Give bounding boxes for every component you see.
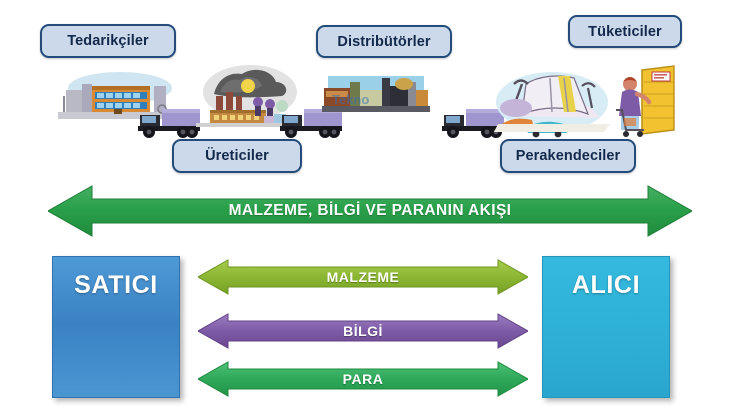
seller-label: SATICI xyxy=(74,271,158,300)
exchange-flow-para: PARA xyxy=(198,360,528,398)
chain-label-retailers[interactable]: Perakendeciler xyxy=(500,139,636,173)
exchange-flow-bilgi: BİLGİ xyxy=(198,312,528,350)
chain-label-consumers[interactable]: Tüketiciler xyxy=(568,15,682,48)
supply-chain-diagram: Tekno xyxy=(0,0,740,420)
main-flow-arrow-shape xyxy=(48,184,692,238)
exchange-flow-bilgi-shape xyxy=(198,312,528,350)
chain-label-suppliers-text: Tedarikçiler xyxy=(67,33,149,49)
chain-label-suppliers[interactable]: Tedarikçiler xyxy=(40,24,176,58)
chain-label-distributors-text: Distribütörler xyxy=(337,34,430,50)
chain-label-manufacturers[interactable]: Üreticiler xyxy=(172,139,302,173)
buyer-label: ALICI xyxy=(572,271,640,300)
chain-label-distributors[interactable]: Distribütörler xyxy=(316,25,452,58)
exchange-flow-malzeme: MALZEME xyxy=(198,258,528,296)
chain-label-consumers-text: Tüketiciler xyxy=(588,24,662,40)
chain-label-retailers-text: Perakendeciler xyxy=(516,148,621,164)
exchange-flow-malzeme-shape xyxy=(198,258,528,296)
exchange-flow-para-shape xyxy=(198,360,528,398)
delivery-truck-illustration xyxy=(136,104,202,140)
buyer-box[interactable]: ALICI xyxy=(542,256,670,398)
shopper-with-cart-illustration xyxy=(606,64,678,138)
chain-label-manufacturers-text: Üreticiler xyxy=(205,148,269,164)
shopping-mall-illustration xyxy=(492,62,618,140)
industrial-warehouse-illustration: Tekno xyxy=(322,68,430,124)
svg-text:Tekno: Tekno xyxy=(332,92,369,107)
main-flow-arrow: MALZEME, BİLGİ VE PARANIN AKIŞI xyxy=(48,184,692,238)
seller-box[interactable]: SATICI xyxy=(52,256,180,398)
